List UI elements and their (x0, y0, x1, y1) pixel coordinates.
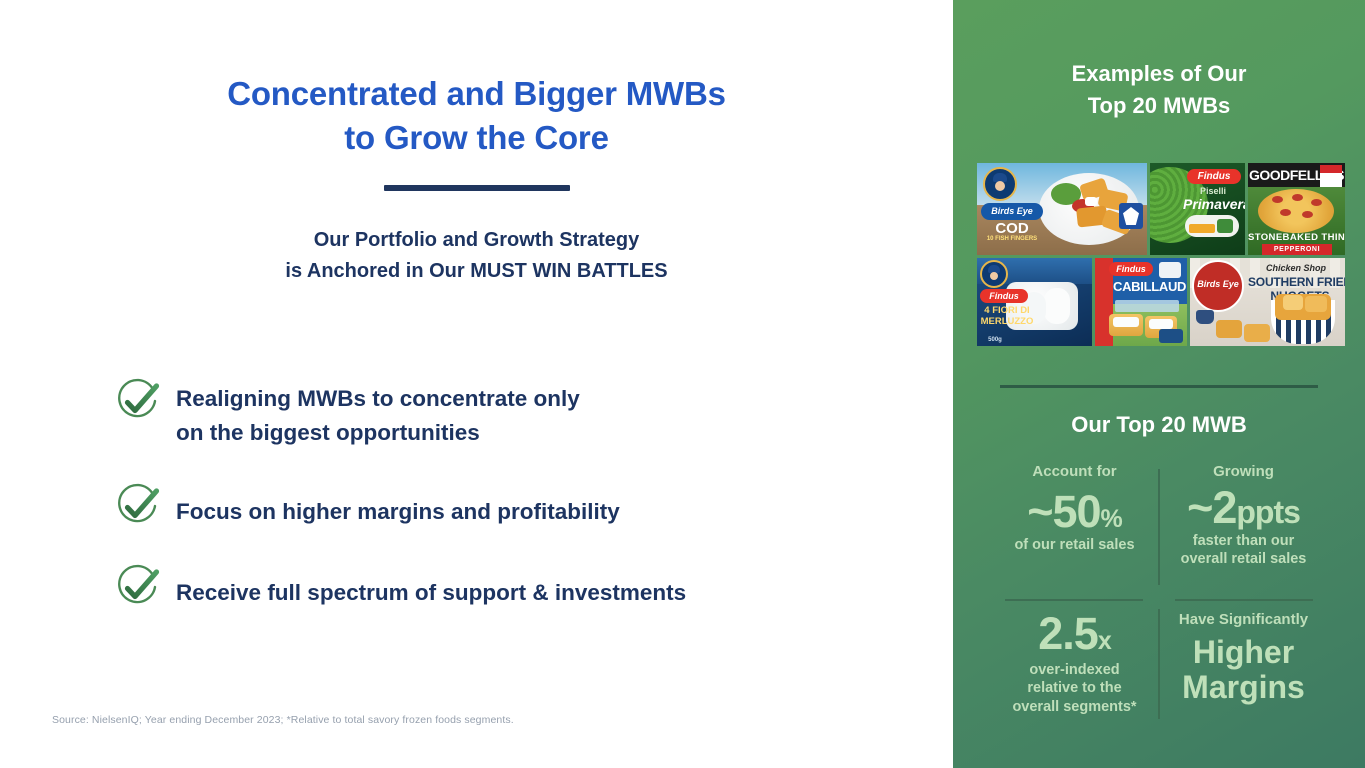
product-image-findus-piselli-primavera: Findus Piselli Primavera (1150, 163, 1245, 255)
stat-value-line-2: Margins (1166, 670, 1321, 705)
stat-cell-higher-margins: Have Significantly Higher Margins (1166, 611, 1321, 704)
list-item-label: Realigning MWBs to concentrate only on t… (176, 378, 580, 451)
list-item: Focus on higher margins and profitabilit… (112, 483, 932, 532)
pack-sub: MERLUZZO (980, 317, 1034, 327)
pack-brand: Birds Eye (981, 203, 1043, 220)
product-image-findus-cabillaud: Findus CABILLAUD (1095, 258, 1187, 346)
stat-description-line-3: overall segments* (997, 698, 1152, 716)
stat-label: Growing (1166, 463, 1321, 481)
pack-brand: Findus (980, 289, 1028, 303)
bullet-list: Realigning MWBs to concentrate only on t… (112, 378, 932, 613)
stat-description: of our retail sales (997, 536, 1152, 554)
bullet-1-line-2: on the biggest opportunities (176, 420, 480, 445)
pack-sub: Primavera (1183, 197, 1243, 212)
pack-name: CABILLAUD (1113, 280, 1185, 294)
pack-brand: Findus (1109, 262, 1153, 276)
stat-unit: ppts (1236, 494, 1300, 530)
title-block: Concentrated and Bigger MWBs to Grow the… (0, 72, 953, 287)
list-item-label: Receive full spectrum of support & inves… (176, 564, 686, 610)
title-line-1: Concentrated and Bigger MWBs (0, 72, 953, 116)
pack-tagline: Chicken Shop (1250, 264, 1342, 273)
check-circle-icon (112, 480, 164, 532)
bullet-1-line-1: Realigning MWBs to concentrate only (176, 386, 580, 411)
subtitle-line-2: is Anchored in Our MUST WIN BATTLES (0, 256, 953, 287)
panel-heading: Examples of Our Top 20 MWBs (953, 58, 1365, 122)
list-item-label: Focus on higher margins and profitabilit… (176, 483, 620, 529)
stat-label: Have Significantly (1166, 611, 1321, 629)
list-item: Receive full spectrum of support & inves… (112, 564, 932, 613)
product-image-findus-4-fiori-merluzzo: Findus 4 FIORI DI MERLUZZO 500g (977, 258, 1092, 346)
stat-cell-growing: Growing ~2ppts faster than our overall r… (1166, 463, 1321, 569)
panel-divider (1000, 385, 1318, 388)
stat-cell-over-indexed: 2.5x over-indexed relative to the overal… (997, 611, 1152, 716)
product-image-birds-eye-southern-fried-nuggets: Birds Eye Chicken Shop SOUTHERN FRIED NU… (1190, 258, 1345, 346)
product-image-grid: Birds Eye COD 10 FISH FINGERS Findus Pis… (977, 163, 1345, 346)
left-content-panel: Concentrated and Bigger MWBs to Grow the… (0, 0, 953, 768)
stat-value: ~2ppts (1166, 485, 1321, 530)
stat-description-line-1: over-indexed (997, 661, 1152, 679)
stat-value: 2.5x (997, 611, 1152, 656)
stat-description-line-2: overall retail sales (1166, 550, 1321, 568)
check-circle-icon (112, 375, 164, 427)
stat-cell-account-for: Account for ~50% of our retail sales (997, 463, 1152, 554)
panel-heading-line-1: Examples of Our (953, 58, 1365, 90)
stats-horizontal-divider-right (1175, 599, 1313, 601)
subtitle: Our Portfolio and Growth Strategy is Anc… (0, 225, 953, 287)
title-divider-rule (384, 185, 570, 191)
list-item: Realigning MWBs to concentrate only on t… (112, 378, 932, 451)
source-note: Source: NielsenIQ; Year ending December … (52, 714, 514, 726)
pack-brand: Findus (1187, 169, 1241, 184)
stat-label: Account for (997, 463, 1152, 481)
pack-name: SOUTHERN FRIED (1248, 276, 1344, 289)
pack-sub: PEPPERONI (1262, 244, 1332, 255)
stat-description-line-2: relative to the (997, 679, 1152, 697)
stats-grid: Account for ~50% of our retail sales Gro… (997, 463, 1321, 721)
subtitle-line-1: Our Portfolio and Growth Strategy (0, 225, 953, 256)
pack-brand: Birds Eye (1194, 280, 1242, 289)
stat-value: ~50% (997, 489, 1152, 534)
panel-heading-line-2: Top 20 MWBs (953, 90, 1365, 122)
pack-weight: 500g (980, 337, 1010, 343)
stat-number: ~50 (1027, 486, 1100, 537)
stats-vertical-divider-bottom (1158, 609, 1160, 719)
pack-sub: 10 FISH FINGERS (981, 236, 1043, 242)
stats-vertical-divider-top (1158, 469, 1160, 585)
stat-description-line-1: faster than our (1166, 532, 1321, 550)
stats-horizontal-divider-left (1005, 599, 1143, 601)
pack-name: 4 FIORI DI (980, 306, 1034, 316)
page-title: Concentrated and Bigger MWBs to Grow the… (0, 72, 953, 159)
stats-heading: Our Top 20 MWB (953, 412, 1365, 438)
stat-unit: x (1098, 627, 1111, 655)
pack-name: STONEBAKED THIN (1248, 233, 1345, 243)
pack-name: COD (981, 221, 1043, 237)
stat-value-line-1: Higher (1166, 635, 1321, 670)
stat-number: ~2 (1187, 482, 1236, 533)
title-line-2: to Grow the Core (0, 116, 953, 160)
stat-unit: % (1101, 505, 1122, 533)
product-image-goodfellas-pizza: GOODFELLA'S STONEBAKED THIN PEPPERONI (1248, 163, 1345, 255)
product-image-birds-eye-cod: Birds Eye COD 10 FISH FINGERS (977, 163, 1147, 255)
check-circle-icon (112, 561, 164, 613)
stat-number: 2.5 (1038, 608, 1098, 659)
right-green-panel: Examples of Our Top 20 MWBs Birds Eye CO… (953, 0, 1365, 768)
